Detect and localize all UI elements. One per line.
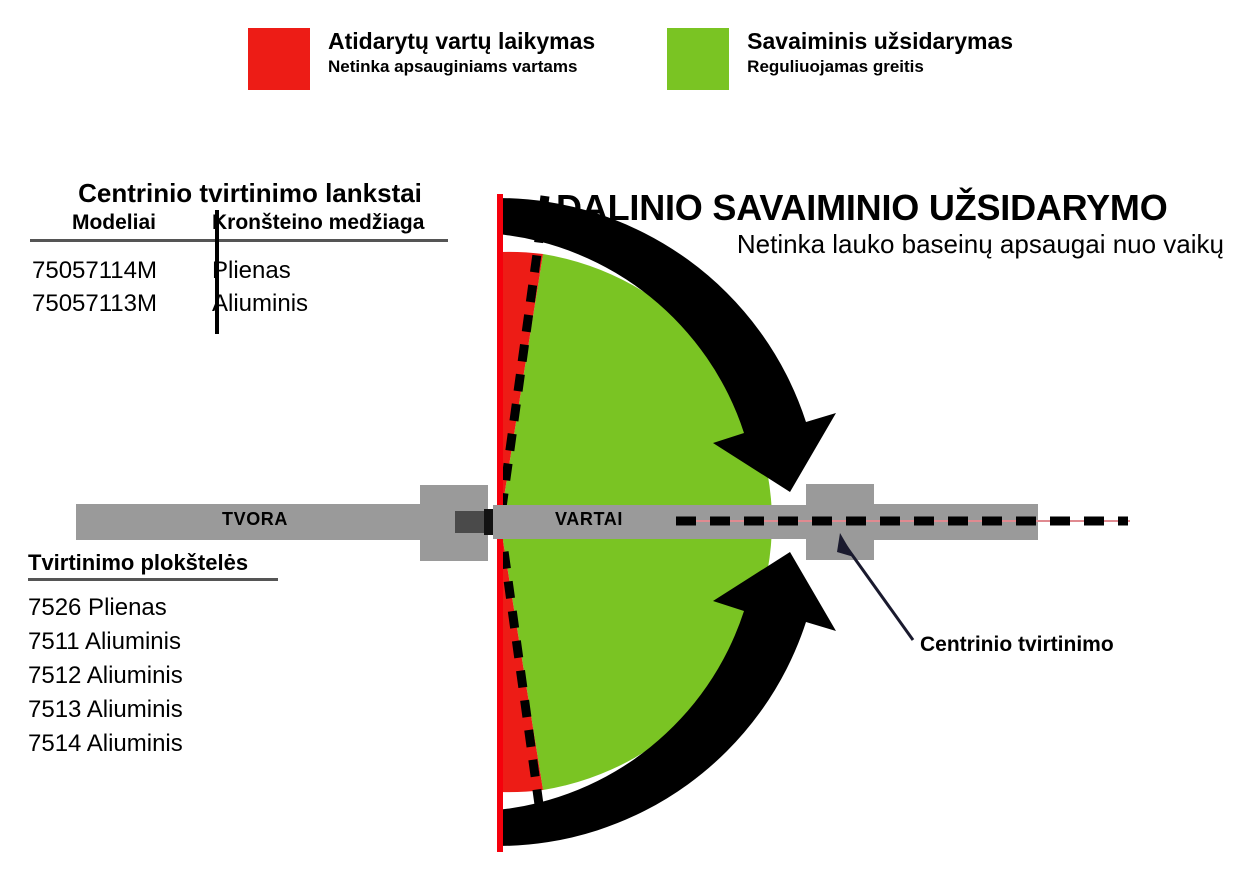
hinge-table-col-models: Modeliai xyxy=(30,210,198,236)
table-row: 75057114M Plienas xyxy=(30,254,470,287)
cell-model: 75057114M xyxy=(30,254,198,287)
plates-title: Tvirtinimo plokštelės xyxy=(28,550,328,576)
list-item: 7514 Aliuminis xyxy=(28,727,328,761)
mounting-plates-list: Tvirtinimo plokštelės 7526 Plienas 7511 … xyxy=(28,550,328,761)
list-item: 7526 Plienas xyxy=(28,591,328,625)
hinge-table-title: Centrinio tvirtinimo lankstai xyxy=(30,178,470,208)
center-mount-callout-label: Centrinio tvirtinimo xyxy=(920,632,1114,658)
legend: Atidarytų vartų laikymas Netinka apsaugi… xyxy=(248,26,1013,90)
legend-entry-text: Atidarytų vartų laikymas Netinka apsaugi… xyxy=(328,26,595,78)
center-mount-hinge-table: Centrinio tvirtinimo lankstai Modeliai K… xyxy=(30,178,470,320)
list-item: 7513 Aliuminis xyxy=(28,693,328,727)
gate-label: VARTAI xyxy=(555,509,623,529)
fence-label: TVORA xyxy=(222,509,288,529)
page-subtitle: Netinka lauko baseinų apsaugai nuo vaikų xyxy=(556,228,1228,260)
column-header-models: Modeliai xyxy=(30,210,198,236)
list-item: 7512 Aliuminis xyxy=(28,659,328,693)
cell-material: Aliuminis xyxy=(212,287,470,320)
hinge-table-header-rule xyxy=(30,239,448,242)
list-item: 7511 Aliuminis xyxy=(28,625,328,659)
legend-title: Atidarytų vartų laikymas xyxy=(328,28,595,54)
plates-title-rule xyxy=(28,578,278,581)
headline-block: DALINIO SAVAIMINIO UŽSIDARYMO Netinka la… xyxy=(556,188,1228,260)
hinge-table-column-divider xyxy=(215,210,219,334)
legend-subtitle: Netinka apsauginiams vartams xyxy=(328,56,595,78)
legend-title: Savaiminis užsidarymas xyxy=(747,28,1013,54)
page-title: DALINIO SAVAIMINIO UŽSIDARYMO xyxy=(556,188,1228,228)
cell-material: Plienas xyxy=(212,254,470,287)
legend-subtitle: Reguliuojamas greitis xyxy=(747,56,1013,78)
green-square-swatch xyxy=(667,28,729,90)
table-row: 75057113M Aliuminis xyxy=(30,287,470,320)
legend-entry-hold-open: Atidarytų vartų laikymas Netinka apsaugi… xyxy=(248,26,595,90)
column-header-material: Kronšteino medžiaga xyxy=(212,210,470,236)
hinge-table-col-material: Kronšteino medžiaga xyxy=(198,210,470,236)
cell-model: 75057113M xyxy=(30,287,198,320)
legend-entry-text: Savaiminis užsidarymas Reguliuojamas gre… xyxy=(747,26,1013,78)
callout-leader-line xyxy=(845,545,913,640)
hinge-table-header-row: Modeliai Kronšteino medžiaga xyxy=(30,210,470,236)
red-square-swatch xyxy=(248,28,310,90)
legend-entry-self-closing: Savaiminis užsidarymas Reguliuojamas gre… xyxy=(667,26,1013,90)
